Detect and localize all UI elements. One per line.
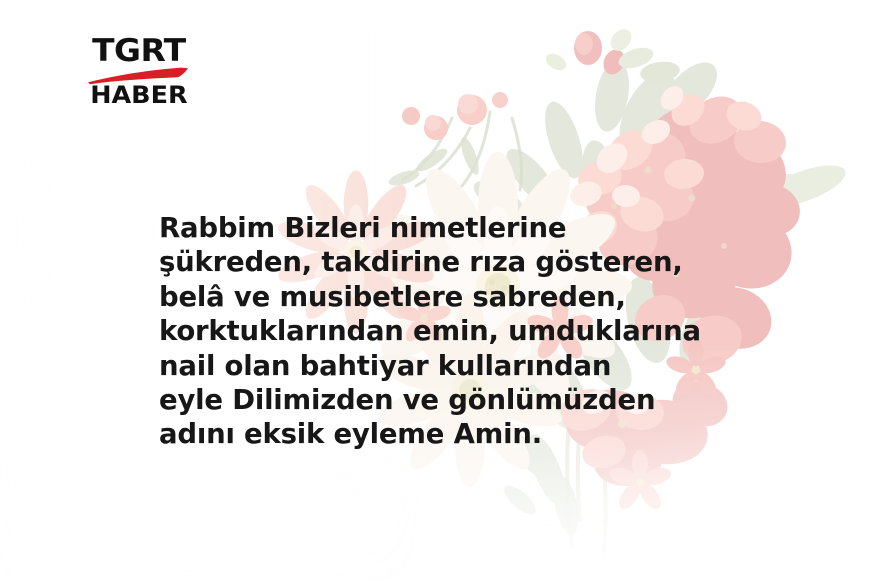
message-line: korktuklarından emin, umduklarına xyxy=(159,314,719,348)
message-line: eyle Dilimizden ve gönlümüzden xyxy=(159,383,719,417)
tgrt-haber-logo: TGRT HABER xyxy=(88,36,184,112)
logo-secondary-word: HABER xyxy=(88,83,190,107)
logo-primary-word: TGRT xyxy=(88,36,190,67)
message-line: Rabbim Bizleri nimetlerine xyxy=(159,211,719,245)
message-line: adını eksik eyleme Amin. xyxy=(159,417,719,451)
message-line: nail olan bahtiyar kullarından xyxy=(159,349,719,383)
image-card: TGRT HABER Rabbim Bizleri nimetlerine şü… xyxy=(0,0,880,581)
message-line: belâ ve musibetlere sabreden, xyxy=(159,280,719,314)
message-line: şükreden, takdirine rıza gösteren, xyxy=(159,245,719,279)
message-text-block: Rabbim Bizleri nimetlerine şükreden, tak… xyxy=(159,211,719,452)
